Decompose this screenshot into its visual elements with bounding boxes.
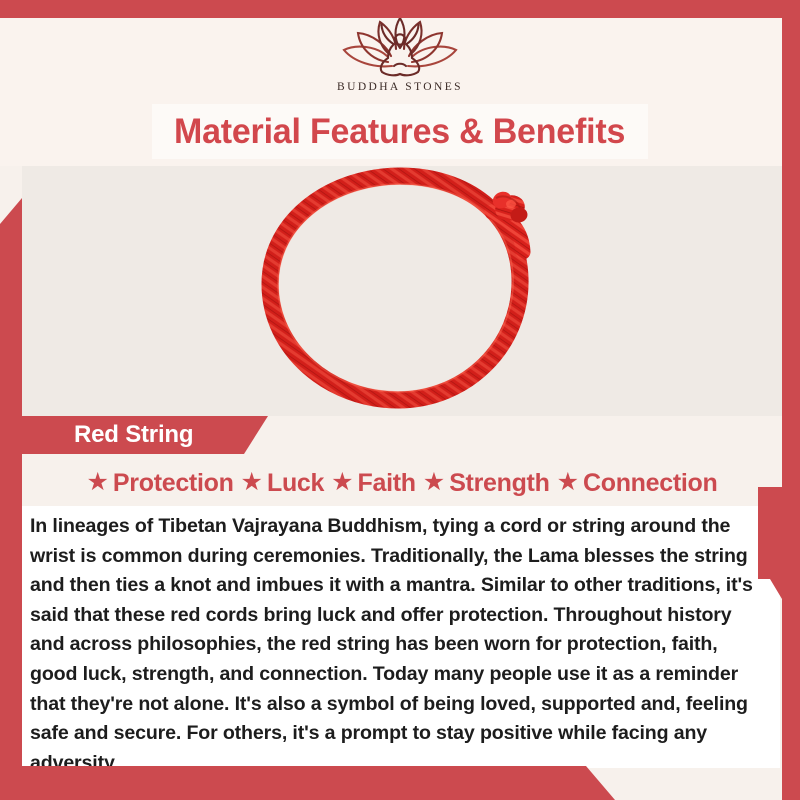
benefit-label: Protection xyxy=(113,469,234,498)
description-text: In lineages of Tibetan Vajrayana Buddhis… xyxy=(30,512,770,778)
benefit-label: Connection xyxy=(583,469,718,498)
star-icon: ★ xyxy=(557,470,579,495)
page-title-band: Material Features & Benefits xyxy=(152,104,648,159)
benefit-item-connection: ★ Connection xyxy=(557,469,718,498)
star-icon: ★ xyxy=(87,470,109,495)
star-icon: ★ xyxy=(423,470,445,495)
benefit-item-faith: ★ Faith xyxy=(331,469,416,498)
benefit-label: Strength xyxy=(449,469,549,498)
right-border-bar xyxy=(782,0,800,800)
red-string-bracelet-image xyxy=(230,166,575,416)
benefits-row: ★ Protection ★ Luck ★ Faith ★ Strength ★… xyxy=(22,461,782,505)
brand-name: BUDDHA STONES xyxy=(0,81,800,93)
lotus-meditation-icon xyxy=(0,14,800,80)
section-label: Red String xyxy=(74,421,193,449)
description-panel: In lineages of Tibetan Vajrayana Buddhis… xyxy=(22,506,780,768)
benefit-label: Luck xyxy=(267,469,324,498)
benefit-label: Faith xyxy=(358,469,416,498)
star-icon: ★ xyxy=(241,470,263,495)
brand-logo: BUDDHA STONES xyxy=(0,14,800,93)
benefit-item-luck: ★ Luck xyxy=(241,469,325,498)
page-title: Material Features & Benefits xyxy=(174,112,625,152)
star-icon: ★ xyxy=(331,470,353,495)
product-photo xyxy=(22,166,782,416)
section-label-banner: Red String xyxy=(22,416,268,454)
bottom-accent-bar xyxy=(0,766,615,800)
infographic-page: BUDDHA STONES Material Features & Benefi… xyxy=(0,0,800,800)
top-border-bar xyxy=(0,0,800,18)
benefit-item-protection: ★ Protection xyxy=(87,469,234,498)
left-accent-bar xyxy=(0,198,22,782)
benefit-item-strength: ★ Strength xyxy=(423,469,550,498)
